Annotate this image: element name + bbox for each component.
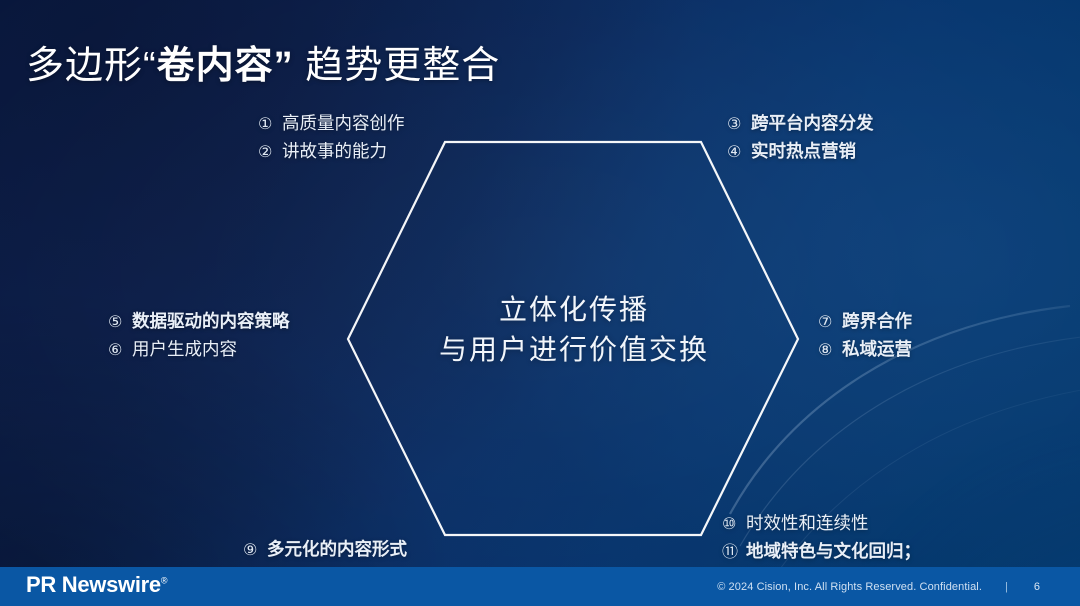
- item-number: ④: [727, 140, 751, 165]
- list-item: ⑪地域特色与文化回归；: [722, 538, 921, 566]
- item-number: ⑧: [818, 338, 842, 363]
- page-number: 6: [1034, 581, 1040, 593]
- list-item: ⑩时效性和连续性: [722, 510, 921, 538]
- footer-bar: PR Newswire® © 2024 Cision, Inc. All Rig…: [0, 567, 1080, 606]
- list-item: ②讲故事的能力: [258, 138, 405, 166]
- pr-newswire-logo: PR Newswire®: [26, 572, 167, 598]
- list-item: ①高质量内容创作: [258, 110, 405, 138]
- copyright-text: © 2024 Cision, Inc. All Rights Reserved.…: [717, 581, 982, 593]
- list-item: ⑤数据驱动的内容策略: [108, 308, 290, 336]
- logo-text: PR Newswire: [26, 572, 161, 597]
- page-title-part3: 趋势更整合: [294, 45, 501, 87]
- item-number: ⑨: [243, 538, 267, 563]
- label-group-top-left: ①高质量内容创作 ②讲故事的能力: [258, 110, 405, 165]
- item-text: 多元化的内容形式: [267, 539, 407, 559]
- item-text: 时效性和连续性: [746, 513, 869, 533]
- item-number: ②: [258, 140, 282, 165]
- item-number: ③: [727, 112, 751, 137]
- item-number: ⑩: [722, 512, 746, 537]
- item-text: 高质量内容创作: [282, 113, 405, 133]
- item-number: ⑥: [108, 338, 132, 363]
- center-line-1: 立体化传播: [350, 290, 798, 330]
- page-title-part2: 卷内容”: [157, 45, 294, 87]
- page-title: 多边形“卷内容” 趋势更整合: [26, 34, 500, 89]
- item-text: 用户生成内容: [132, 339, 237, 359]
- item-text: 数据驱动的内容策略: [132, 311, 290, 331]
- footer-separator: |: [1005, 581, 1008, 593]
- slide-root: 多边形“卷内容” 趋势更整合 立体化传播 与用户进行价值交换 ①高质量内容创作 …: [0, 0, 1080, 606]
- label-group-bottom-right: ⑩时效性和连续性 ⑪地域特色与文化回归；: [722, 510, 921, 565]
- item-number: ⑦: [818, 310, 842, 335]
- item-number: ⑪: [722, 540, 746, 565]
- item-number: ①: [258, 112, 282, 137]
- label-group-middle-right: ⑦跨界合作 ⑧私域运营: [818, 308, 912, 363]
- label-group-middle-left: ⑤数据驱动的内容策略 ⑥用户生成内容: [108, 308, 290, 363]
- hexagon-center-text: 立体化传播 与用户进行价值交换: [350, 290, 798, 370]
- list-item: ⑨多元化的内容形式: [243, 536, 407, 564]
- label-group-bottom-left: ⑨多元化的内容形式: [243, 536, 407, 564]
- item-text: 跨界合作: [842, 311, 912, 331]
- list-item: ③跨平台内容分发: [727, 110, 874, 138]
- list-item: ④实时热点营销: [727, 138, 874, 166]
- item-text: 讲故事的能力: [282, 141, 387, 161]
- item-text: 地域特色与文化回归；: [746, 541, 921, 561]
- list-item: ⑧私域运营: [818, 336, 912, 364]
- item-number: ⑤: [108, 310, 132, 335]
- page-title-part1: 多边形“: [26, 45, 157, 87]
- registered-mark-icon: ®: [161, 576, 167, 586]
- list-item: ⑥用户生成内容: [108, 336, 290, 364]
- list-item: ⑦跨界合作: [818, 308, 912, 336]
- center-line-2: 与用户进行价值交换: [350, 330, 798, 370]
- item-text: 实时热点营销: [751, 141, 856, 161]
- item-text: 跨平台内容分发: [751, 113, 874, 133]
- item-text: 私域运营: [842, 339, 912, 359]
- label-group-top-right: ③跨平台内容分发 ④实时热点营销: [727, 110, 874, 165]
